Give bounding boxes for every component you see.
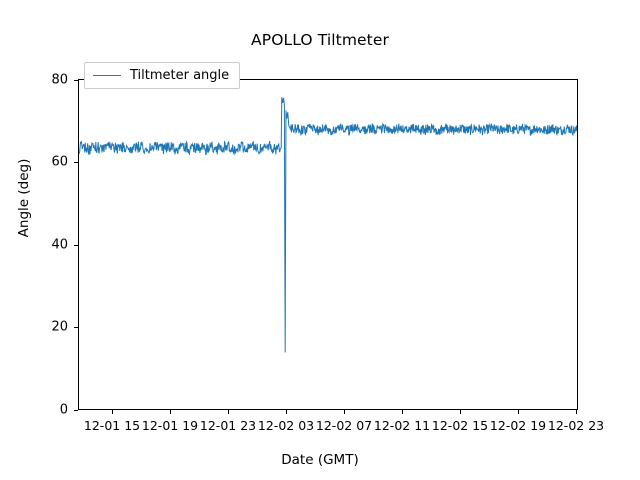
xtick-mark xyxy=(402,410,403,414)
x-axis-label: Date (GMT) xyxy=(0,452,640,468)
ytick-label-60: 60 xyxy=(40,155,68,170)
ytick-mark xyxy=(74,410,78,411)
xtick-label-8: 12-02 23 xyxy=(548,418,604,433)
xtick-label-3: 12-02 03 xyxy=(258,418,314,433)
ytick-label-40: 40 xyxy=(40,238,68,253)
legend-label: Tiltmeter angle xyxy=(130,68,229,83)
xtick-label-0: 12-01 15 xyxy=(84,418,140,433)
xtick-label-5: 12-02 11 xyxy=(374,418,430,433)
chart-legend: Tiltmeter angle xyxy=(84,62,240,89)
chart-title: APOLLO Tiltmeter xyxy=(0,31,640,49)
figure-canvas: APOLLO Tiltmeter 0 20 40 60 80 12-01 15 … xyxy=(0,0,640,480)
xtick-mark xyxy=(228,410,229,414)
xtick-mark xyxy=(170,410,171,414)
legend-line-swatch xyxy=(93,75,121,76)
xtick-mark xyxy=(286,410,287,414)
plot-area xyxy=(78,79,578,410)
ytick-label-0: 0 xyxy=(40,403,68,418)
xtick-label-7: 12-02 19 xyxy=(490,418,546,433)
xtick-label-4: 12-02 07 xyxy=(316,418,372,433)
tiltmeter-angle-line xyxy=(79,97,577,352)
ytick-label-20: 20 xyxy=(40,320,68,335)
xtick-mark xyxy=(112,410,113,414)
xtick-label-6: 12-02 15 xyxy=(432,418,488,433)
xtick-mark xyxy=(460,410,461,414)
xtick-mark xyxy=(344,410,345,414)
xtick-label-2: 12-01 23 xyxy=(200,418,256,433)
xtick-mark xyxy=(576,410,577,414)
xtick-mark xyxy=(518,410,519,414)
y-axis-label: Angle (deg) xyxy=(16,68,32,328)
xtick-label-1: 12-01 19 xyxy=(142,418,198,433)
data-line-svg xyxy=(79,80,577,409)
ytick-label-80: 80 xyxy=(40,73,68,88)
